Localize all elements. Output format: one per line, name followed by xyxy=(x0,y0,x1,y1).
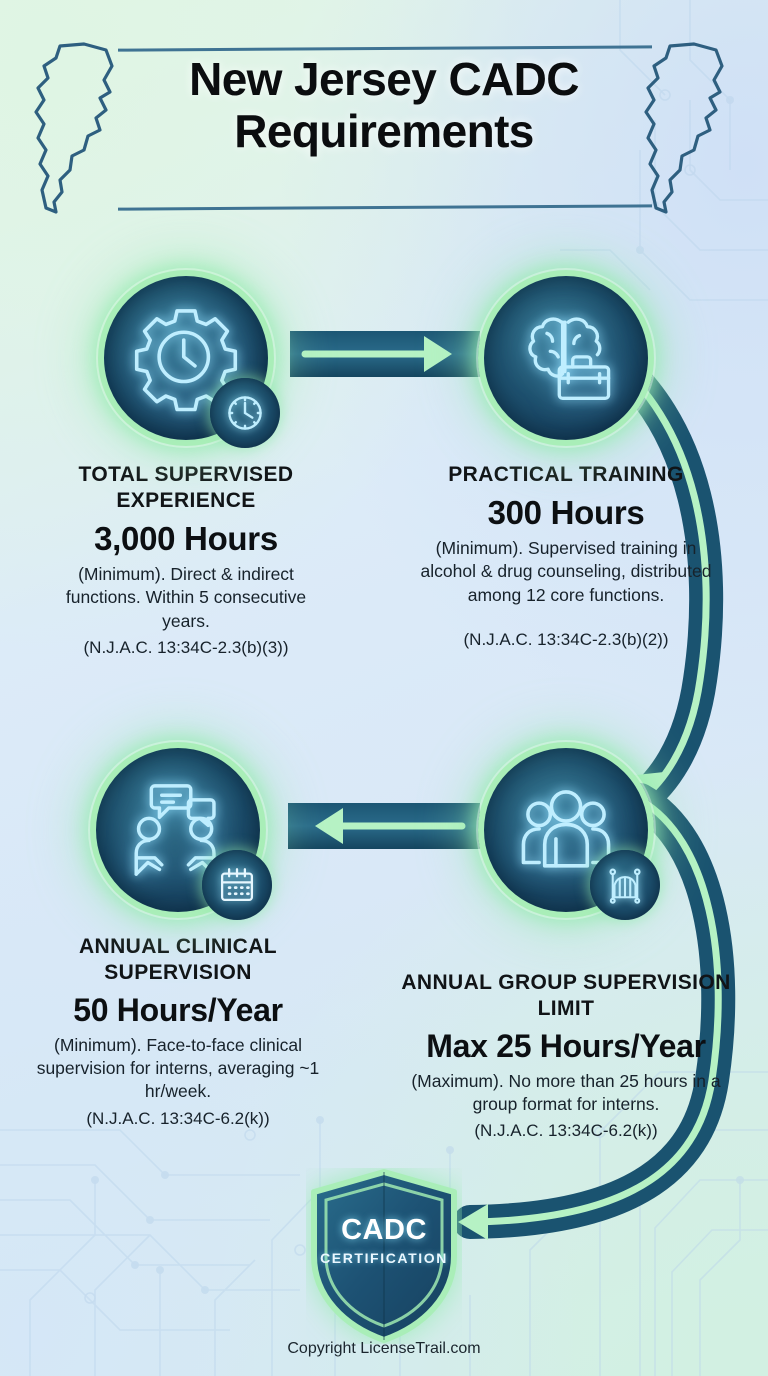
node-title: ANNUAL CLINICAL SUPERVISION xyxy=(10,934,346,986)
flow-node-total-supervised-experience: TOTAL SUPERVISED EXPERIENCE 3,000 Hours … xyxy=(18,270,354,659)
node-title: TOTAL SUPERVISED EXPERIENCE xyxy=(18,462,354,514)
poster-header: New Jersey CADC Requirements xyxy=(0,28,768,220)
gate-barrier-icon xyxy=(590,850,660,920)
page-title-line-2: Requirements xyxy=(0,106,768,158)
node-value: 3,000 Hours xyxy=(18,521,354,557)
shield-sublabel: CERTIFICATION xyxy=(306,1250,462,1266)
node-value: 50 Hours/Year xyxy=(10,993,346,1028)
node-description: (Minimum). Face-to-face clinical supervi… xyxy=(10,1034,346,1103)
node-title: ANNUAL GROUP SUPERVISION LIMIT xyxy=(398,970,734,1022)
node-description: (Minimum). Supervised training in alcoho… xyxy=(398,537,734,606)
node-citation: (N.J.A.C. 13:34C-2.3(b)(2)) xyxy=(398,629,734,651)
node-citation: (N.J.A.C. 13:34C-6.2(k)) xyxy=(398,1120,734,1142)
node-value: Max 25 Hours/Year xyxy=(398,1029,734,1064)
icon-badge xyxy=(478,742,654,918)
header-rule-top xyxy=(118,45,652,51)
node-value: 300 Hours xyxy=(398,495,734,531)
node-description: (Maximum). No more than 25 hours in a gr… xyxy=(398,1070,734,1116)
node-description: (Minimum). Direct & indirect functions. … xyxy=(18,563,354,632)
footer-copyright: Copyright LicenseTrail.com xyxy=(0,1340,768,1358)
flow-node-annual-clinical-supervision: ANNUAL CLINICAL SUPERVISION 50 Hours/Yea… xyxy=(10,742,346,1130)
calendar-icon xyxy=(202,850,272,920)
icon-badge xyxy=(90,742,266,918)
icon-badge xyxy=(98,270,274,446)
node-title: PRACTICAL TRAINING xyxy=(398,462,734,488)
flow-node-practical-training: PRACTICAL TRAINING 300 Hours (Minimum). … xyxy=(398,270,734,651)
shield-label: CADC xyxy=(306,1214,462,1247)
header-rule-bottom xyxy=(118,204,652,210)
icon-badge xyxy=(478,270,654,446)
clock-icon xyxy=(210,378,280,448)
infographic-poster: New Jersey CADC Requirements xyxy=(0,0,768,1376)
cadc-certification-shield: CADC CERTIFICATION xyxy=(306,1168,462,1344)
flow-node-annual-group-supervision-limit: ANNUAL GROUP SUPERVISION LIMIT Max 25 Ho… xyxy=(398,742,734,1143)
page-title-line-1: New Jersey CADC xyxy=(0,54,768,106)
node-citation: (N.J.A.C. 13:34C-6.2(k)) xyxy=(10,1108,346,1130)
brain-toolbox-icon xyxy=(478,270,654,446)
node-citation: (N.J.A.C. 13:34C-2.3(b)(3)) xyxy=(18,637,354,659)
page-title: New Jersey CADC Requirements xyxy=(0,54,768,157)
